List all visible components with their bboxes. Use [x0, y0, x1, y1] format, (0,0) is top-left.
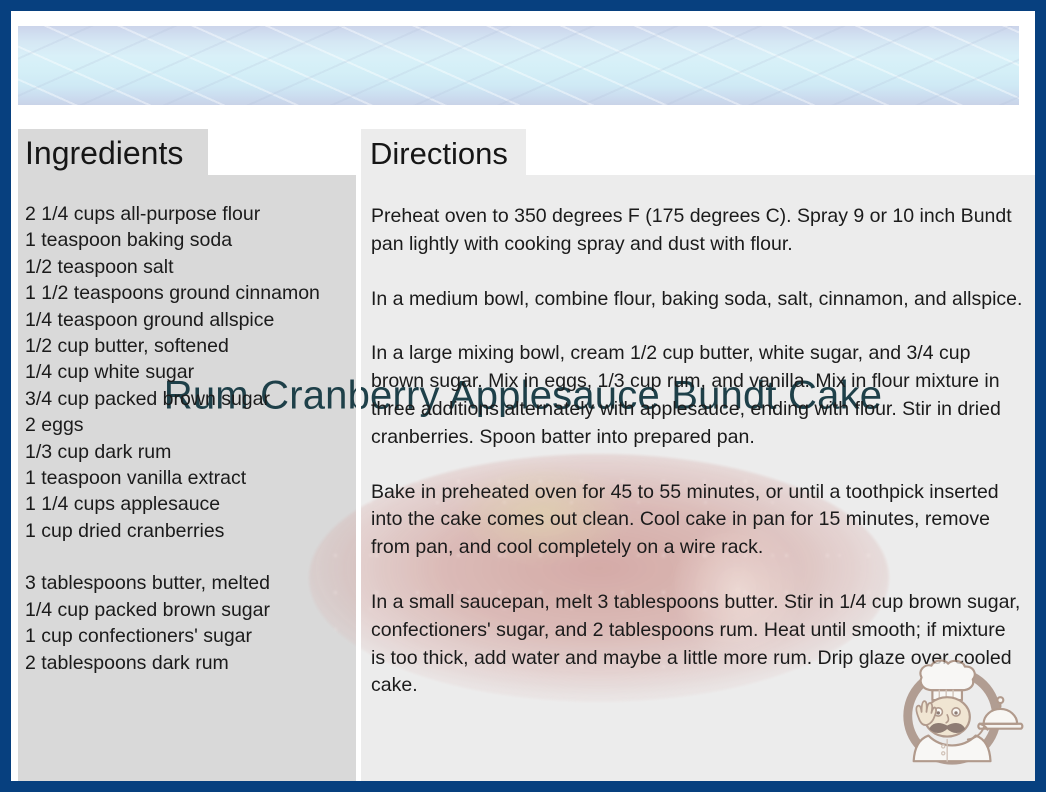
ingredient-item: 1/3 cup dark rum — [25, 439, 355, 465]
ingredient-item: 1/2 cup butter, softened — [25, 333, 355, 359]
ingredients-heading: Ingredients — [25, 135, 183, 172]
directions-heading: Directions — [370, 136, 508, 172]
ingredient-item: 3 tablespoons butter, melted — [25, 570, 355, 596]
panel-gutter — [356, 129, 361, 781]
banner-weave-texture — [18, 26, 1019, 105]
directions-list: Preheat oven to 350 degrees F (175 degre… — [371, 203, 1023, 700]
ingredient-item: 1 teaspoon baking soda — [25, 227, 355, 253]
direction-step: In a large mixing bowl, cream 1/2 cup bu… — [371, 340, 1023, 451]
ingredients-list: 2 1/4 cups all-purpose flour 1 teaspoon … — [25, 201, 355, 676]
ingredient-item: 2 1/4 cups all-purpose flour — [25, 201, 355, 227]
ingredient-item: 1 teaspoon vanilla extract — [25, 465, 355, 491]
ingredient-item: 1 cup confectioners' sugar — [25, 623, 355, 649]
ingredient-item: 1/4 cup packed brown sugar — [25, 597, 355, 623]
title-banner — [18, 26, 1019, 105]
chef-mascot-logo — [889, 641, 1027, 773]
ingredient-item: 1 cup dried cranberries — [25, 518, 355, 544]
slide-inner-frame: Rum Cranberry Applesauce Bundt Cake Ingr… — [11, 11, 1035, 781]
ingredient-item: 1 1/2 teaspoons ground cinnamon — [25, 280, 355, 306]
ingredient-item: 1 1/4 cups applesauce — [25, 491, 355, 517]
ingredient-item: 1/4 teaspoon ground allspice — [25, 307, 355, 333]
direction-step: Bake in preheated oven for 45 to 55 minu… — [371, 479, 1023, 562]
ingredient-item: 1/2 teaspoon salt — [25, 254, 355, 280]
banner-weave-texture-alt — [18, 26, 1019, 105]
ingredient-item: 1/4 cup white sugar — [25, 359, 355, 385]
recipe-slide: Rum Cranberry Applesauce Bundt Cake Ingr… — [0, 0, 1046, 792]
ingredients-group-gap — [25, 544, 355, 570]
ingredient-item: 2 tablespoons dark rum — [25, 650, 355, 676]
direction-step: In a medium bowl, combine flour, baking … — [371, 286, 1023, 314]
direction-step: Preheat oven to 350 degrees F (175 degre… — [371, 203, 1023, 259]
ingredient-item: 2 eggs — [25, 412, 355, 438]
ingredient-item: 3/4 cup packed brown sugar — [25, 386, 355, 412]
